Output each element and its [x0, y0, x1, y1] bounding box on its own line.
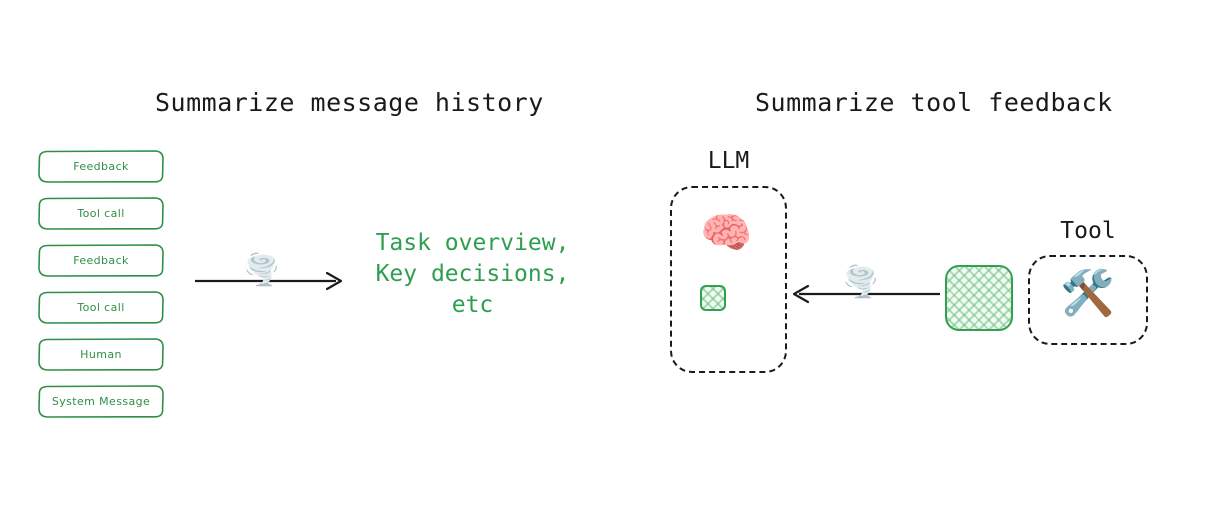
- message-box-label: Tool call: [77, 207, 124, 220]
- message-box-label: Feedback: [73, 160, 129, 173]
- raw-tool-output-token: [945, 265, 1013, 331]
- summary-output-text: Task overview, Key decisions, etc: [370, 228, 575, 321]
- right-panel-title: Summarize tool feedback: [755, 88, 1113, 117]
- brain-icon: 🧠: [700, 212, 752, 254]
- message-box[interactable]: Feedback: [37, 243, 165, 278]
- hammer-and-wrench-icon: 🛠️: [1060, 272, 1115, 316]
- message-history-stack: Feedback Tool call Feedback Tool call Hu: [37, 149, 165, 431]
- message-box[interactable]: Human: [37, 337, 165, 372]
- diagram-canvas: Summarize message history Feedback Tool …: [0, 0, 1223, 505]
- message-box[interactable]: Tool call: [37, 196, 165, 231]
- message-box[interactable]: Feedback: [37, 149, 165, 184]
- left-panel-title: Summarize message history: [155, 88, 544, 117]
- summarize-arrow-left-panel: 🌪️: [195, 270, 345, 292]
- summarize-arrow-right-panel: 🌪️: [790, 283, 940, 305]
- message-box-label: Human: [80, 348, 122, 361]
- tornado-icon: 🌪️: [243, 256, 280, 286]
- tool-box-title: Tool: [1028, 218, 1148, 244]
- message-box[interactable]: System Message: [37, 384, 165, 419]
- llm-box-title: LLM: [670, 148, 787, 174]
- compressed-context-token: [700, 285, 726, 311]
- message-box-label: Feedback: [73, 254, 129, 267]
- message-box-label: Tool call: [77, 301, 124, 314]
- message-box[interactable]: Tool call: [37, 290, 165, 325]
- message-box-label: System Message: [52, 395, 150, 408]
- tornado-icon: 🌪️: [842, 268, 879, 298]
